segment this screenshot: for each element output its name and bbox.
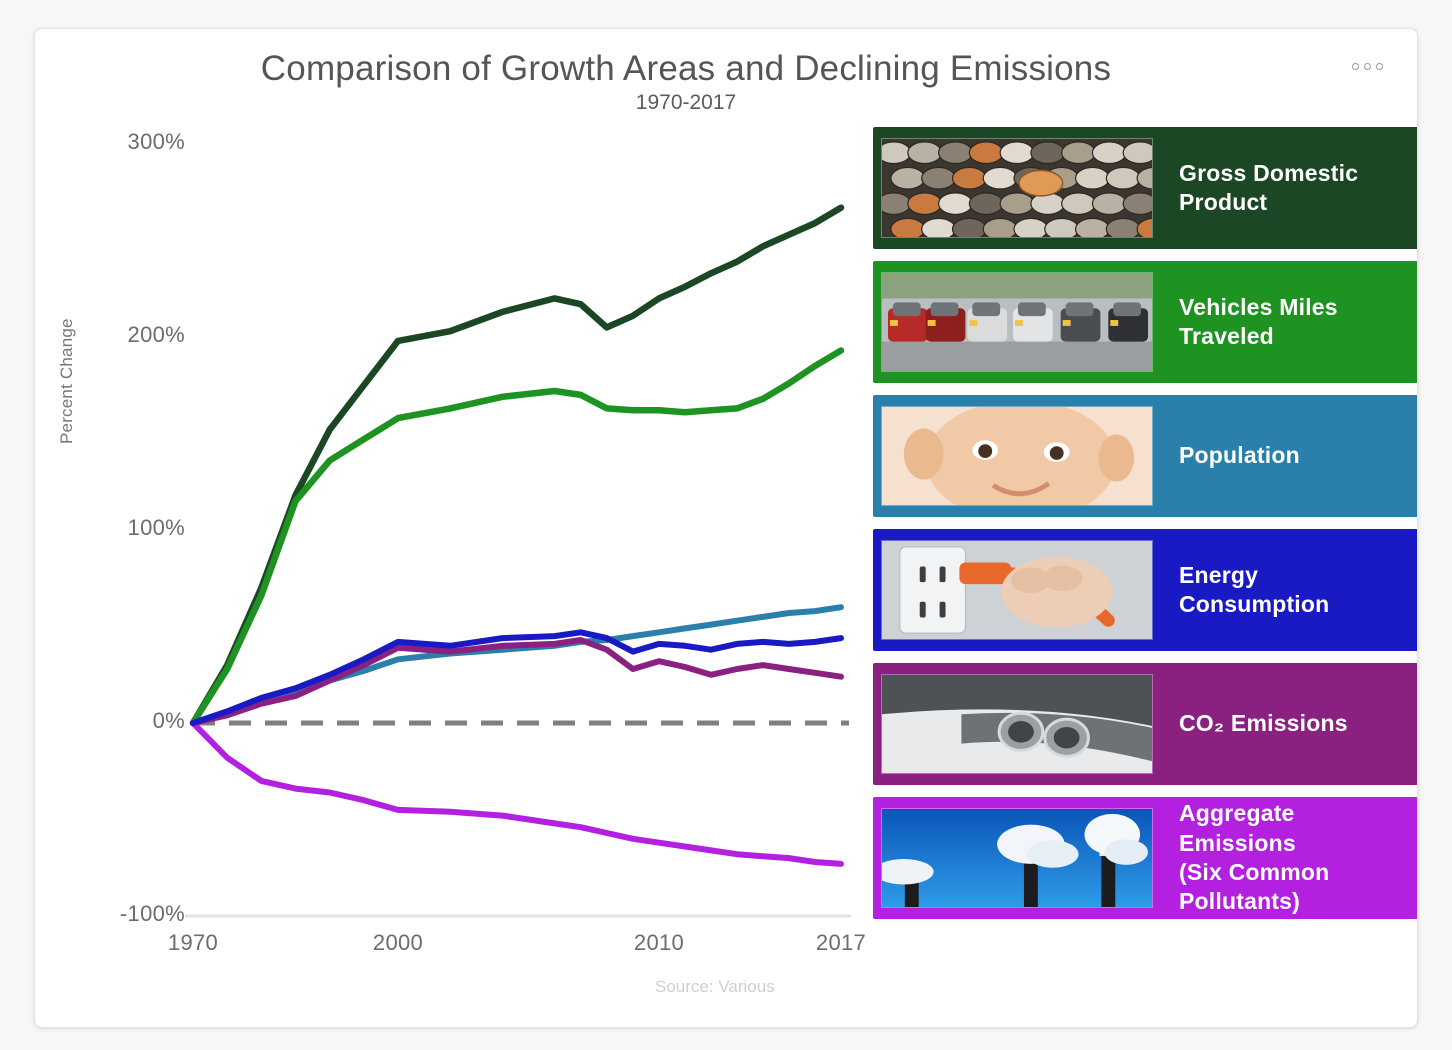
legend-label-line2: (Six Common Pollutants) (1179, 858, 1411, 917)
legend-thumbnail (881, 674, 1153, 774)
electric-plug-photo (882, 541, 1152, 639)
legend-label-line1: Gross Domestic Product (1179, 160, 1358, 215)
legend-label-line1: Population (1179, 442, 1300, 468)
legend-item-vehicles-miles-traveled[interactable]: Vehicles Miles Traveled (873, 261, 1418, 383)
legend-item-label: Population (1153, 441, 1418, 470)
legend-item-co-emissions[interactable]: CO₂ Emissions (873, 663, 1418, 785)
legend-label-line1: CO₂ Emissions (1179, 710, 1348, 736)
legend-item-label: Energy Consumption (1153, 561, 1418, 620)
legend-thumbnail (881, 272, 1153, 372)
series-line (193, 640, 841, 723)
menu-dot (1352, 63, 1359, 70)
series-line (193, 723, 841, 864)
smokestacks-photo (882, 809, 1152, 907)
legend-item-population[interactable]: Population (873, 395, 1418, 517)
legend-item-energy-consumption[interactable]: Energy Consumption (873, 529, 1418, 651)
source-note: Source: Various (655, 977, 775, 997)
legend-item-aggregate-emissions[interactable]: Aggregate Emissions(Six Common Pollutant… (873, 797, 1418, 919)
traffic-jam-photo (882, 273, 1152, 371)
chart-card: Comparison of Growth Areas and Declining… (34, 28, 1418, 1028)
menu-dot (1376, 63, 1383, 70)
legend: Gross Domestic ProductVehicles Miles Tra… (873, 127, 1418, 931)
legend-item-label: Aggregate Emissions(Six Common Pollutant… (1153, 799, 1418, 917)
legend-item-label: Vehicles Miles Traveled (1153, 293, 1418, 352)
legend-label-line1: Energy Consumption (1179, 562, 1329, 617)
legend-item-gross-domestic-product[interactable]: Gross Domestic Product (873, 127, 1418, 249)
legend-item-label: CO₂ Emissions (1153, 709, 1418, 738)
line-chart-svg (35, 29, 865, 1028)
legend-label-line1: Aggregate Emissions (1179, 800, 1296, 855)
plot-area: Percent Change 300%200%100%0%-100% 19702… (35, 29, 865, 1027)
exhaust-pipe-photo (882, 675, 1152, 773)
legend-thumbnail (881, 540, 1153, 640)
more-horizontal-icon[interactable] (1345, 55, 1389, 77)
coins-photo (882, 139, 1152, 237)
legend-item-label: Gross Domestic Product (1153, 159, 1418, 218)
baby-photo (882, 407, 1152, 505)
legend-label-line1: Vehicles Miles Traveled (1179, 294, 1338, 349)
legend-thumbnail (881, 406, 1153, 506)
menu-dot (1364, 63, 1371, 70)
page-root: Comparison of Growth Areas and Declining… (0, 0, 1452, 1050)
legend-thumbnail (881, 138, 1153, 238)
legend-thumbnail (881, 808, 1153, 908)
